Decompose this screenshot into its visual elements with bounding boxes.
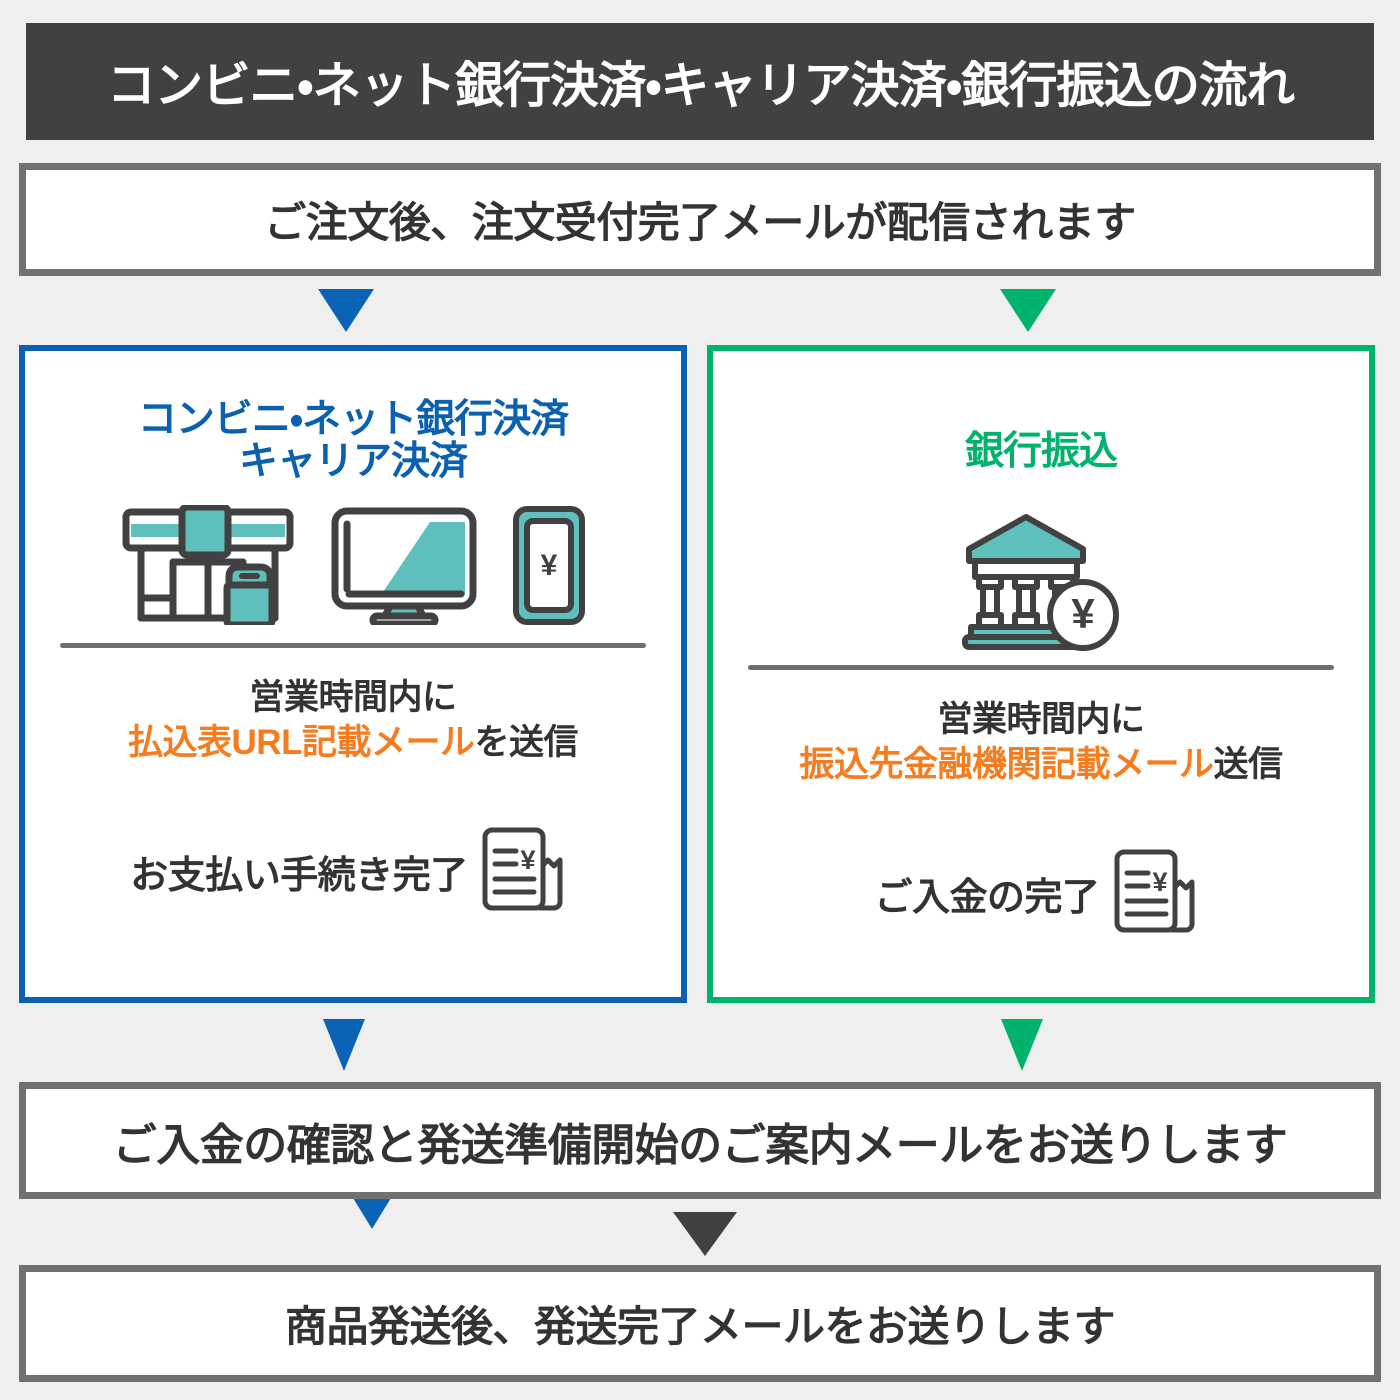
panel-konbini-send-highlight: 払込表URL記載メール (128, 723, 474, 762)
panel-furikomi-divider (748, 665, 1334, 670)
panel-furikomi: 銀行振込 (707, 345, 1375, 1003)
svg-text:¥: ¥ (1071, 590, 1095, 637)
panel-konbini-complete-label: お支払い手続き完了 (130, 844, 468, 899)
panel-konbini-title-line2: キャリア決済 (25, 441, 681, 483)
monitor-icon (329, 505, 479, 625)
receipt-yen-icon: ¥ (476, 824, 576, 920)
panel-furikomi-send-highlight: 振込先金融機関記載メール (799, 745, 1213, 784)
header-bar: コンビニ・ネット銀行決済・キャリア決済・銀行振込の流れ (26, 23, 1374, 140)
bank-yen-icon: ¥ (955, 509, 1127, 651)
step-payment-confirmed-label: ご入金の確認と発送準備開始のご案内メールをお送りします (113, 1109, 1288, 1173)
arrow-furikomi-to-confirm-icon (1001, 1019, 1043, 1071)
panel-konbini-icon-row: ¥ (25, 505, 681, 625)
panel-furikomi-title-line1: 銀行振込 (713, 431, 1369, 473)
panel-konbini-title: コンビニ・ネット銀行決済 キャリア決済 (25, 399, 681, 483)
convenience-store-icon (119, 505, 297, 625)
panel-furikomi-send-text: 営業時間内に 振込先金融機関記載メール送信 (713, 698, 1369, 788)
panel-furikomi-icon-row: ¥ (713, 511, 1369, 651)
step-shipped-box: 商品発送後、発送完了メールをお送りします (19, 1265, 1381, 1382)
page-title: コンビニ・ネット銀行決済・キャリア決済・銀行振込の流れ (106, 46, 1293, 117)
svg-text:¥: ¥ (520, 845, 535, 875)
panel-konbini: コンビニ・ネット銀行決済 キャリア決済 (19, 345, 687, 1003)
svg-text:¥: ¥ (541, 549, 558, 582)
arrow-order-to-furikomi-icon (1000, 289, 1056, 332)
panel-furikomi-send-prefix: 営業時間内に (713, 698, 1369, 743)
arrow-order-to-konbini-icon (318, 289, 374, 332)
receipt-yen-icon: ¥ (1108, 846, 1208, 942)
arrow-confirm-to-shipped-icon (673, 1212, 737, 1256)
panel-konbini-send-prefix: 営業時間内に (25, 676, 681, 721)
step-payment-confirmed-box: ご入金の確認と発送準備開始のご案内メールをお送りします (19, 1082, 1381, 1199)
panel-furikomi-complete-row: ご入金の完了 ¥ (713, 846, 1369, 942)
panel-konbini-send-line2: 払込表URL記載メールを送信 (25, 721, 681, 766)
panel-konbini-send-suffix: を送信 (474, 723, 578, 762)
panel-konbini-divider (60, 643, 646, 648)
panel-konbini-title-line1: コンビニ・ネット銀行決済 (25, 399, 681, 441)
panel-furikomi-send-suffix: 送信 (1214, 745, 1283, 784)
panel-konbini-complete-row: お支払い手続き完了 ¥ (25, 824, 681, 920)
panel-furikomi-title: 銀行振込 (713, 431, 1369, 473)
panel-furikomi-complete-label: ご入金の完了 (874, 866, 1099, 921)
panel-konbini-send-text: 営業時間内に 払込表URL記載メールを送信 (25, 676, 681, 766)
panel-furikomi-send-line2: 振込先金融機関記載メール送信 (713, 743, 1369, 788)
smartphone-yen-icon: ¥ (511, 505, 587, 625)
arrow-konbini-to-confirm-icon (323, 1019, 365, 1071)
payment-flow-diagram: コンビニ・ネット銀行決済・キャリア決済・銀行振込の流れ ご注文後、注文受付完了メ… (0, 0, 1400, 1400)
step-order-label: ご注文後、注文受付完了メールが配信されます (264, 189, 1136, 250)
step-order-box: ご注文後、注文受付完了メールが配信されます (19, 163, 1381, 276)
step-shipped-label: 商品発送後、発送完了メールをお送りします (285, 1293, 1115, 1354)
svg-text:¥: ¥ (1152, 867, 1167, 897)
